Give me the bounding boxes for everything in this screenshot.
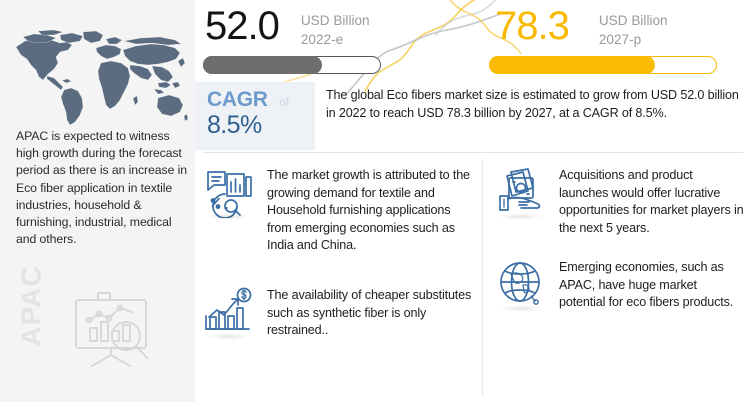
icon-shadow <box>499 213 543 220</box>
cagr-of-label: of <box>279 95 289 109</box>
stat-2022-unit: USD Billion <box>301 11 370 30</box>
bullet-cheaper-substitutes: The availability of cheaper substitutes … <box>203 286 475 340</box>
money-hand-cash-icon <box>495 166 547 218</box>
stat-2022-bar-track <box>203 56 381 74</box>
chart-presentation-magnifier-icon <box>62 288 162 373</box>
bullet-emerging-economies-text: Emerging economies, such as APAC, have h… <box>559 258 745 312</box>
cagr-value: 8.5% <box>207 111 262 140</box>
cagr-box: CAGR of 8.5% <box>195 82 315 150</box>
bullet-cheaper-substitutes-text: The availability of cheaper substitutes … <box>267 286 475 340</box>
market-analysis-percent-icon <box>203 166 255 218</box>
market-description: The global Eco fibers market size is est… <box>326 87 744 123</box>
stat-2022-bar-fill <box>203 56 322 74</box>
stat-2027-unit: USD Billion <box>599 11 668 30</box>
bullet-grid: The market growth is attributed to the g… <box>195 158 750 402</box>
stat-2027-bar-track <box>489 56 717 74</box>
bullet-market-growth-text: The market growth is attributed to the g… <box>267 166 475 255</box>
cagr-description-row: CAGR of 8.5% The global Eco fibers marke… <box>195 82 750 150</box>
bullet-emerging-economies: Emerging economies, such as APAC, have h… <box>495 258 745 312</box>
world-map-icon <box>8 28 188 128</box>
icon-shadow <box>499 305 543 312</box>
icon-shadow <box>207 333 251 340</box>
stat-2027-bar-fill <box>489 56 655 74</box>
icon-shadow <box>207 213 251 220</box>
right-content-area: 52.0 USD Billion 2022-e 78.3 USD Billion… <box>195 0 750 402</box>
stat-2022-labels: USD Billion 2022-e <box>301 4 370 49</box>
stat-2027-value: 78.3 <box>495 4 569 48</box>
bullet-market-growth: The market growth is attributed to the g… <box>203 166 475 255</box>
stat-2022-value: 52.0 <box>205 4 279 48</box>
stat-2027-row: 78.3 USD Billion 2027-p <box>495 4 668 49</box>
stat-2027-year: 2027-p <box>599 30 668 49</box>
bullet-acquisitions: Acquisitions and product launches would … <box>495 166 745 237</box>
bullet-acquisitions-text: Acquisitions and product launches would … <box>559 166 745 237</box>
stat-2022: 52.0 USD Billion 2022-e <box>195 0 467 78</box>
eco-fibers-market-infographic: APAC is expected to witness high growth … <box>0 0 750 402</box>
globe-icon <box>495 258 547 310</box>
left-panel-description: APAC is expected to witness high growth … <box>16 128 188 248</box>
horizontal-divider <box>203 152 743 153</box>
bar-chart-growth-dollar-icon <box>203 286 255 338</box>
stat-2027: 78.3 USD Billion 2027-p <box>467 0 750 78</box>
stat-2022-year: 2022-e <box>301 30 370 49</box>
apac-watermark: APAC <box>16 265 48 346</box>
left-panel: APAC is expected to witness high growth … <box>0 0 195 402</box>
cagr-title: CAGR <box>207 88 268 112</box>
stat-2022-row: 52.0 USD Billion 2022-e <box>205 4 370 49</box>
stat-2027-labels: USD Billion 2027-p <box>599 4 668 49</box>
